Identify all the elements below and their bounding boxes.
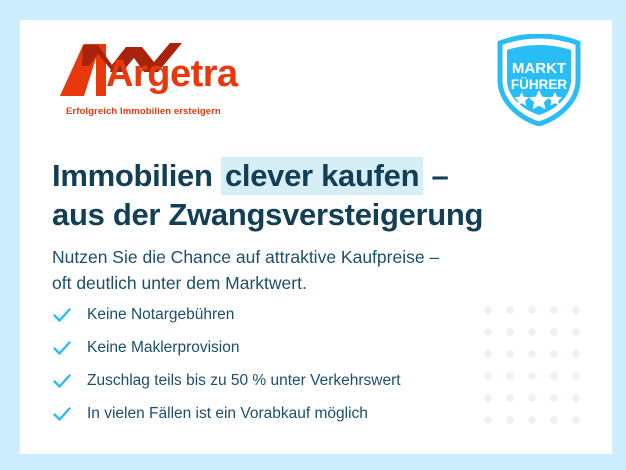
grid-dot: [572, 350, 580, 358]
list-item-label: Keine Maklerprovision: [87, 340, 240, 356]
check-icon: [52, 404, 72, 424]
headline-line1-after: –: [423, 158, 448, 193]
grid-dot: [528, 416, 536, 424]
grid-dot: [550, 394, 558, 402]
banner-card: Argetra Erfolgreich Immobilien ersteiger…: [20, 20, 612, 454]
grid-dot: [484, 306, 492, 314]
decorative-dot-grid: [484, 306, 602, 442]
grid-dot: [506, 306, 514, 314]
logo-tagline: Erfolgreich Immobilien ersteigern: [66, 106, 221, 117]
grid-dot: [572, 328, 580, 336]
list-item-label: Keine Notargebühren: [87, 307, 234, 323]
list-item: Zuschlag teils bis zu 50 % unter Verkehr…: [52, 366, 512, 396]
grid-dot: [484, 416, 492, 424]
grid-dot: [572, 394, 580, 402]
headline-line1-before: Immobilien: [52, 158, 221, 193]
grid-dot: [506, 328, 514, 336]
badge-line2: FÜHRER: [511, 77, 567, 92]
headline-line1: Immobilien clever kaufen –: [52, 157, 449, 195]
grid-dot: [506, 394, 514, 402]
grid-dot: [484, 350, 492, 358]
grid-dot: [550, 350, 558, 358]
list-item-label: In vielen Fällen ist ein Vorabkauf mögli…: [87, 406, 368, 422]
check-icon: [52, 338, 72, 358]
grid-dot: [484, 328, 492, 336]
page-title: Immobilien clever kaufen – aus der Zwang…: [52, 156, 572, 235]
marktfuehrer-badge: MARKT FÜHRER: [496, 34, 582, 126]
headline-line2: aus der Zwangsversteigerung: [52, 197, 483, 232]
list-item: Keine Notargebühren: [52, 300, 512, 330]
grid-dot: [528, 372, 536, 380]
grid-dot: [528, 328, 536, 336]
subheading-line2: oft deutlich unter dem Marktwert.: [52, 273, 307, 293]
argetra-logo[interactable]: Argetra Erfolgreich Immobilien ersteiger…: [58, 38, 258, 120]
grid-dot: [550, 372, 558, 380]
grid-dot: [550, 306, 558, 314]
grid-dot: [484, 372, 492, 380]
banner-frame: Argetra Erfolgreich Immobilien ersteiger…: [0, 0, 626, 470]
grid-dot: [550, 416, 558, 424]
subheading-line1: Nutzen Sie die Chance auf attraktive Kau…: [52, 247, 439, 267]
grid-dot: [484, 394, 492, 402]
grid-dot: [550, 328, 558, 336]
grid-dot: [506, 372, 514, 380]
benefits-list: Keine Notargebühren Keine Maklerprovisio…: [52, 300, 512, 432]
list-item-label: Zuschlag teils bis zu 50 % unter Verkehr…: [87, 373, 401, 389]
grid-dot: [528, 394, 536, 402]
badge-line1: MARKT: [512, 60, 566, 77]
grid-dot: [528, 306, 536, 314]
check-icon: [52, 371, 72, 391]
subheading: Nutzen Sie die Chance auf attraktive Kau…: [52, 244, 552, 297]
grid-dot: [572, 306, 580, 314]
list-item: In vielen Fällen ist ein Vorabkauf mögli…: [52, 399, 512, 429]
headline-highlight: clever kaufen: [221, 157, 423, 195]
grid-dot: [572, 372, 580, 380]
grid-dot: [506, 350, 514, 358]
check-icon: [52, 305, 72, 325]
list-item: Keine Maklerprovision: [52, 333, 512, 363]
grid-dot: [528, 350, 536, 358]
grid-dot: [506, 416, 514, 424]
grid-dot: [572, 416, 580, 424]
logo-wordmark: Argetra: [106, 55, 238, 93]
